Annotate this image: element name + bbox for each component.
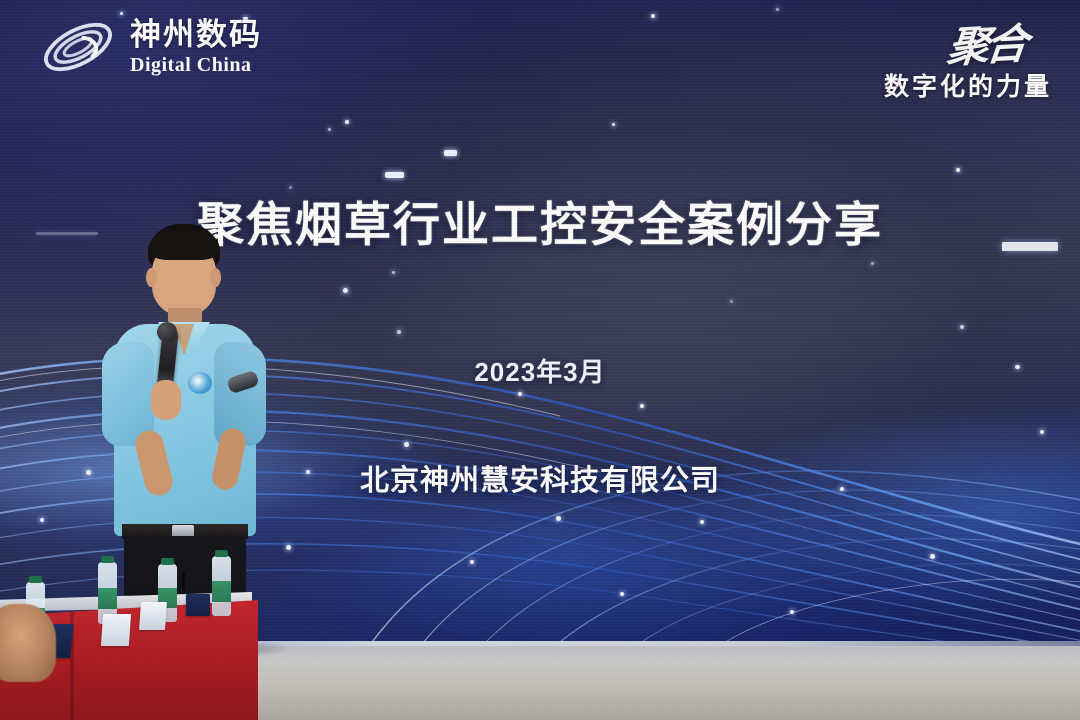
speaker-hand-left (151, 380, 181, 420)
swirl-spiral-icon (36, 16, 120, 78)
speaker-ear-right (210, 268, 221, 287)
conference-photo-scene: 神州数码 Digital China 聚合 数字化的力量 聚焦烟草行业工控安全案… (0, 0, 1080, 720)
speaker-hair-top (148, 230, 220, 260)
event-calligraphy: 聚合 (944, 10, 1027, 75)
water-bottle (212, 556, 231, 616)
name-card (101, 614, 131, 646)
shirt-logo-icon (188, 372, 212, 394)
microphone-head-icon (157, 322, 177, 342)
name-card (186, 594, 210, 616)
digital-china-logo: 神州数码 Digital China (36, 16, 262, 78)
brand-name-cn: 神州数码 (130, 19, 262, 50)
foreground-attendee (0, 604, 56, 682)
speaker-ear-left (146, 268, 157, 287)
event-logo: 聚合 数字化的力量 (884, 12, 1052, 103)
brand-name-en: Digital China (130, 55, 262, 75)
name-card (139, 602, 167, 630)
